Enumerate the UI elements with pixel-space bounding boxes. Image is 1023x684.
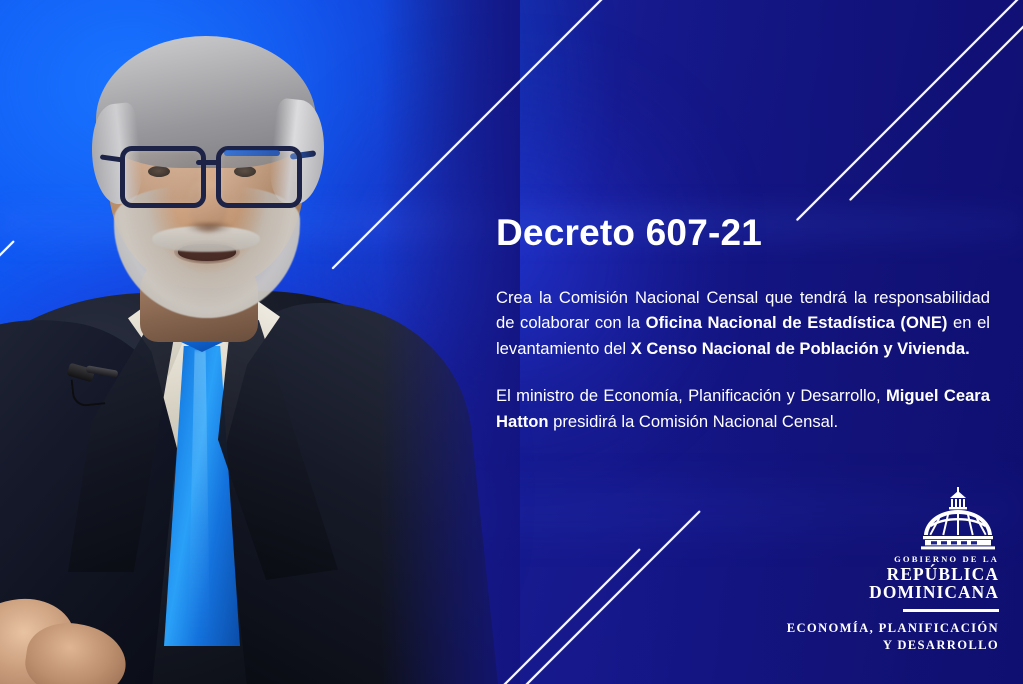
text-run-1: Oficina Nacional de Estadística (ONE) <box>646 313 948 332</box>
logo-ministry-line2: Y DESARROLLO <box>767 637 999 654</box>
decree-description-paragraph: Crea la Comisión Nacional Censal que ten… <box>496 285 990 362</box>
government-logo: GOBIERNO DE LA REPÚBLICA DOMINICANA ECON… <box>767 487 999 654</box>
dominican-republic-dome-icon <box>917 487 999 551</box>
minister-paragraph: El ministro de Economía, Planificación y… <box>496 383 990 434</box>
text-run-2: presidirá la Comisión Nacional Censal. <box>549 412 839 431</box>
paragraph-spacer <box>496 361 990 383</box>
glasses-blue-accent <box>224 150 280 156</box>
logo-republica-label: REPÚBLICA DOMINICANA <box>767 565 999 602</box>
text-run-0: El ministro de Economía, Planificación y… <box>496 386 886 405</box>
logo-gobierno-label: GOBIERNO DE LA <box>767 554 999 564</box>
logo-ministry-line1: ECONOMÍA, PLANIFICACIÓN <box>767 620 999 637</box>
text-panel: Decreto 607-21 Crea la Comisión Nacional… <box>496 214 990 435</box>
decree-title: Decreto 607-21 <box>496 214 990 253</box>
glasses-bridge <box>196 160 220 165</box>
glasses-lens-left <box>120 146 206 208</box>
text-run-3: X Censo Nacional de Población y Vivienda… <box>631 339 970 358</box>
announcement-graphic: Decreto 607-21 Crea la Comisión Nacional… <box>0 0 1023 684</box>
emblem-wrap <box>767 487 999 551</box>
logo-divider <box>903 609 999 612</box>
nose-shadow <box>184 222 234 234</box>
